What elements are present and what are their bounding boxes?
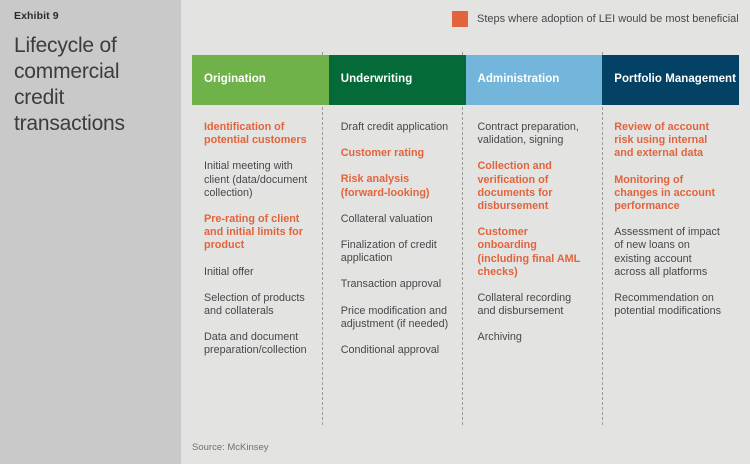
stage-item: Draft credit application [341,121,452,134]
stage-item-list: Review of account risk using internal an… [602,105,739,318]
stage-column: UnderwritingDraft credit applicationCust… [329,55,466,371]
orange-square-icon [452,11,468,27]
stage-item: Selection of products and collaterals [204,292,315,318]
stage-item: Collateral valuation [341,213,452,226]
stage-item-highlighted: Pre-rating of client and initial limits … [204,213,315,253]
legend-label: Steps where adoption of LEI would be mos… [477,13,739,25]
stage-header[interactable]: Portfolio Management [602,55,739,105]
stage-item: Conditional approval [341,344,452,357]
stage-item-list: Draft credit applicationCustomer ratingR… [329,105,466,357]
stage-item: Finalization of credit application [341,239,452,265]
stage-item: Contract preparation, validation, signin… [478,121,589,147]
stage-item-highlighted: Identification of potential customers [204,121,315,147]
title-panel: Exhibit 9 Lifecycle of commercial credit… [0,0,181,464]
stage-header-label: Portfolio Management [614,73,736,87]
exhibit-label: Exhibit 9 [14,10,167,22]
stage-header[interactable]: Origination [192,55,329,105]
stage-column: OriginationIdentification of potential c… [192,55,329,371]
stage-item: Initial offer [204,266,315,279]
legend: Steps where adoption of LEI would be mos… [452,11,739,27]
page-title: Lifecycle of commercial credit transacti… [14,33,167,137]
stage-item-highlighted: Monitoring of changes in account perform… [614,174,725,214]
stage-header-label: Origination [204,73,266,87]
stage-item-highlighted: Customer onboarding (including final AML… [478,226,589,279]
lifecycle-columns: OriginationIdentification of potential c… [192,55,739,371]
stage-item: Initial meeting with client (data/docume… [204,160,315,200]
source-note: Source: McKinsey [192,442,269,453]
stage-header-label: Underwriting [341,73,413,87]
stage-column: AdministrationContract preparation, vali… [466,55,603,371]
stage-header-label: Administration [478,73,560,87]
exhibit-root: Exhibit 9 Lifecycle of commercial credit… [0,0,750,464]
stage-item: Assessment of impact of new loans on exi… [614,226,725,279]
stage-item-highlighted: Customer rating [341,147,452,160]
content-panel: Steps where adoption of LEI would be mos… [181,0,750,464]
stage-item: Archiving [478,331,589,344]
stage-column: Portfolio ManagementReview of account ri… [602,55,739,371]
stage-header[interactable]: Administration [466,55,603,105]
stage-item-highlighted: Review of account risk using internal an… [614,121,725,161]
stage-item: Data and document preparation/collection [204,331,315,357]
stage-item-list: Identification of potential customersIni… [192,105,329,358]
stage-header[interactable]: Underwriting [329,55,466,105]
stage-item: Collateral recording and disbursement [478,292,589,318]
stage-item: Price modification and adjustment (if ne… [341,305,452,331]
stage-item-highlighted: Risk analysis (forward-looking) [341,173,452,199]
stage-item: Recommendation on potential modification… [614,292,725,318]
stage-item-highlighted: Collection and verification of documents… [478,160,589,213]
stage-item-list: Contract preparation, validation, signin… [466,105,603,345]
stage-item: Transaction approval [341,278,452,291]
